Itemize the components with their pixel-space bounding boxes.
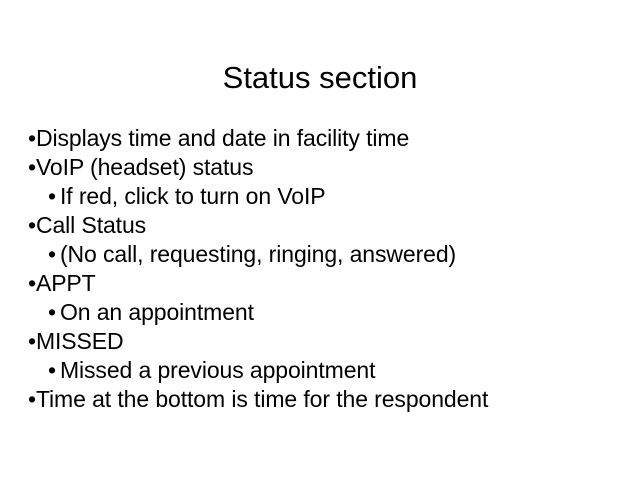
bullet-point-icon: • — [48, 240, 56, 269]
list-item-label: (No call, requesting, ringing, answered) — [60, 241, 456, 267]
bullet-point-icon: • — [48, 182, 56, 211]
list-item-label: Call Status — [36, 212, 146, 238]
list-item: •APPT — [28, 269, 628, 298]
bullet-point-icon: • — [28, 385, 36, 414]
bullet-point-icon: • — [28, 124, 36, 153]
list-item-label: Time at the bottom is time for the respo… — [36, 386, 488, 412]
bullet-point-icon: • — [28, 211, 36, 240]
list-item-label: Displays time and date in facility time — [36, 125, 409, 151]
list-item: •VoIP (headset) status — [28, 153, 628, 182]
bullet-point-icon: • — [48, 298, 56, 327]
list-item: •On an appointment — [48, 298, 628, 327]
bullet-point-icon: • — [48, 356, 56, 385]
list-item-label: On an appointment — [60, 299, 254, 325]
list-item: •Missed a previous appointment — [48, 356, 628, 385]
bullet-list: •Displays time and date in facility time… — [28, 124, 628, 414]
list-item-label: MISSED — [36, 328, 124, 354]
list-item-label: APPT — [36, 270, 96, 296]
bullet-point-icon: • — [28, 269, 36, 298]
list-item: •Time at the bottom is time for the resp… — [28, 385, 628, 414]
list-item-label: VoIP (headset) status — [36, 154, 253, 180]
list-item-label: If red, click to turn on VoIP — [60, 183, 326, 209]
list-item: •(No call, requesting, ringing, answered… — [48, 240, 628, 269]
list-item: •Displays time and date in facility time — [28, 124, 628, 153]
list-item-label: Missed a previous appointment — [60, 357, 375, 383]
list-item: •MISSED — [28, 327, 628, 356]
page-title: Status section — [0, 59, 640, 97]
list-item: •If red, click to turn on VoIP — [48, 182, 628, 211]
slide: Status section •Displays time and date i… — [0, 0, 640, 480]
bullet-point-icon: • — [28, 327, 36, 356]
bullet-point-icon: • — [28, 153, 36, 182]
list-item: •Call Status — [28, 211, 628, 240]
